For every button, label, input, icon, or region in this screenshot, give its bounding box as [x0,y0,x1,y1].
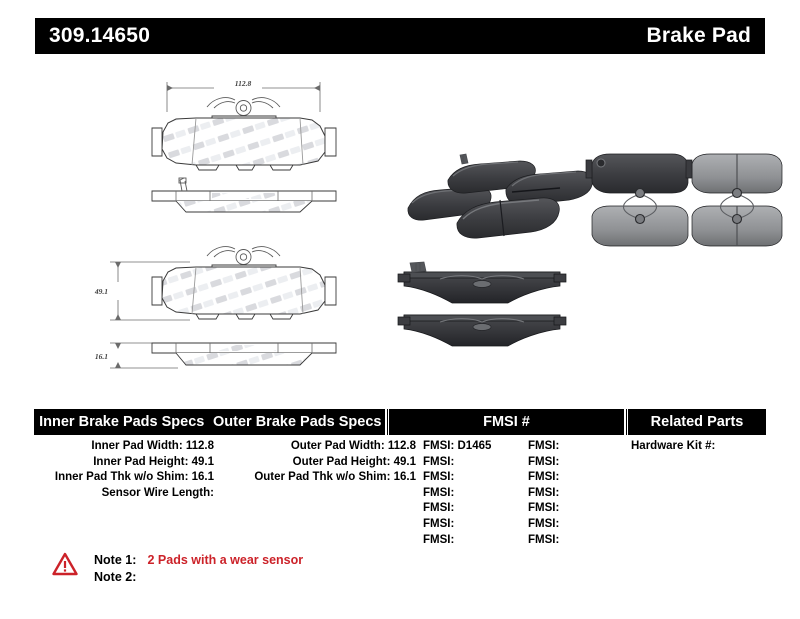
header-related-parts: Related Parts [628,409,766,435]
fmsi-row: FMSI: [528,501,608,517]
header-fmsi: FMSI # [389,409,624,435]
fmsi-row: FMSI: [528,470,608,486]
sensor-tab-edge [410,262,426,272]
fmsi-row: FMSI: [528,517,608,533]
header-outer-brake-pads-specs: Outer Brake Pads Specs [210,414,386,430]
part-number: 309.14650 [49,24,150,48]
fmsi-row: FMSI: [528,455,608,471]
engineering-drawing-top [152,82,336,170]
pad-retaining-clip-top [207,98,280,116]
outer-specs-column: Outer Pad Width: 112.8 Outer Pad Height:… [224,439,416,486]
sensor-tab-photo [460,154,468,164]
page-header: 309.14650 Brake Pad [35,18,765,54]
fmsi-row: FMSI: [528,533,608,549]
fmsi-row: FMSI: [423,470,503,486]
fmsi-row: FMSI: [528,486,608,502]
note-1-value: 2 Pads with a wear sensor [147,553,303,567]
spec-row: Sensor Wire Length: [34,486,214,502]
notes-section: Note 1: 2 Pads with a wear sensor Note 2… [52,552,303,586]
fmsi-column-1: FMSI: D1465 FMSI: FMSI: FMSI: FMSI: FMSI… [423,439,503,548]
product-photo-paired-set [586,154,782,246]
fmsi-column-2: FMSI: FMSI: FMSI: FMSI: FMSI: FMSI: FMSI… [528,439,608,548]
product-photo-edge-set [398,262,566,346]
fmsi-row: FMSI: [423,501,503,517]
clip-boss [473,324,491,331]
clip-boss [473,281,491,288]
spec-row: Outer Pad Thk w/o Shim: 16.1 [224,470,416,486]
sensor-eyelet [597,159,605,167]
fmsi-row: FMSI: [423,486,503,502]
dimension-thickness-label: 16.1 [95,352,108,361]
pad-retaining-clip-bottom [207,247,280,265]
spec-row: Inner Pad Thk w/o Shim: 16.1 [34,470,214,486]
header-inner-brake-pads-specs: Inner Brake Pads Specs [34,414,210,430]
specs-table: Inner Brake Pads Specs Outer Brake Pads … [34,409,766,559]
related-parts-column: Hardware Kit #: [631,439,771,455]
spec-row: Outer Pad Height: 49.1 [224,455,416,471]
engineering-drawing-bottom-edge [152,343,336,365]
fmsi-row: FMSI: D1465 [423,439,503,455]
specs-header-group: Inner Brake Pads Specs Outer Brake Pads … [34,409,385,435]
related-part-row: Hardware Kit #: [631,439,771,455]
note-1-label: Note 1: [94,552,144,569]
engineering-drawing-top-edge [152,178,336,212]
engineering-drawing-bottom [152,247,336,319]
warning-triangle-icon [52,552,78,576]
spec-row: Inner Pad Height: 49.1 [34,455,214,471]
spec-row: Outer Pad Width: 112.8 [224,439,416,455]
dimension-height-label: 49.1 [94,287,108,296]
dimension-width-label: 112.8 [235,79,252,88]
spec-row: Inner Pad Width: 112.8 [34,439,214,455]
note-1-row: Note 1: 2 Pads with a wear sensor [94,552,303,569]
fmsi-row: FMSI: [423,533,503,549]
fmsi-row: FMSI: [423,455,503,471]
note-2-row: Note 2: [94,569,303,586]
wear-sensor-wire [179,178,187,191]
product-illustration-area: 112.8 49.1 16.1 [0,60,800,400]
note-2-label: Note 2: [94,569,144,586]
fmsi-row: FMSI: [528,439,608,455]
page-title: Brake Pad [646,24,751,48]
inner-specs-column: Inner Pad Width: 112.8 Inner Pad Height:… [34,439,214,501]
product-photo-angled-set [408,154,593,238]
fmsi-row: FMSI: [423,517,503,533]
